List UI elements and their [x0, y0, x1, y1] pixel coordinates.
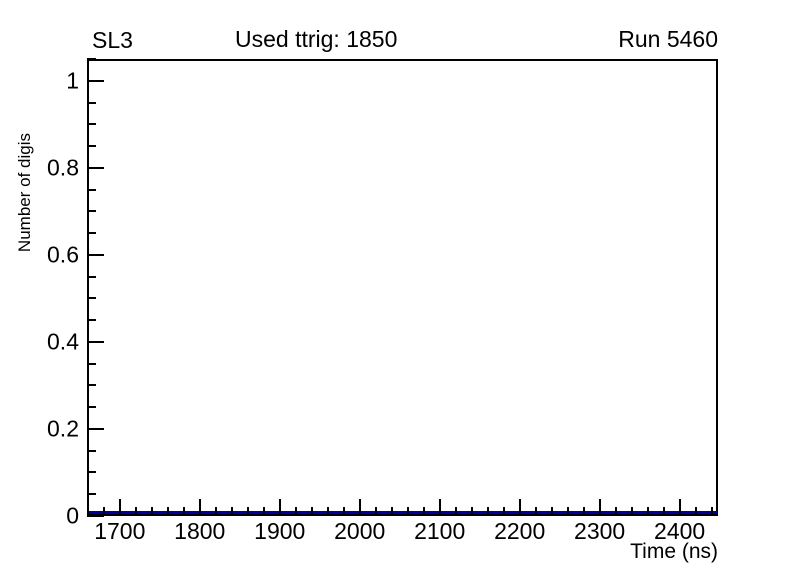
y-tick-major	[87, 515, 104, 517]
x-tick-major	[519, 499, 521, 516]
x-tick-minor	[231, 507, 233, 516]
x-tick-label: 1900	[254, 520, 305, 543]
x-tick-minor	[535, 507, 537, 516]
x-tick-label: 2100	[414, 520, 465, 543]
y-tick-minor	[87, 363, 96, 365]
x-axis-title: Time (ns)	[630, 541, 718, 562]
y-tick-label: 0.6	[47, 243, 79, 266]
y-tick-minor	[87, 232, 96, 234]
x-tick-minor	[215, 507, 217, 516]
x-tick-minor	[423, 507, 425, 516]
y-tick-label: 0	[66, 505, 79, 528]
x-tick-minor	[263, 507, 265, 516]
x-tick-minor	[695, 507, 697, 516]
x-tick-label: 2200	[494, 520, 545, 543]
x-tick-label: 1700	[94, 520, 145, 543]
x-tick-minor	[391, 507, 393, 516]
y-axis-title: Number of digis	[16, 133, 33, 252]
y-tick-minor	[87, 493, 96, 495]
x-tick-minor	[183, 507, 185, 516]
y-tick-minor	[87, 210, 96, 212]
x-tick-minor	[343, 507, 345, 516]
x-tick-minor	[615, 507, 617, 516]
x-tick-minor	[503, 507, 505, 516]
x-tick-minor	[551, 507, 553, 516]
x-tick-label: 1800	[174, 520, 225, 543]
y-tick-minor	[87, 297, 96, 299]
x-tick-minor	[711, 507, 713, 516]
y-tick-label: 0.4	[47, 330, 79, 353]
x-tick-minor	[327, 507, 329, 516]
y-axis-title-wrapper: Number of digis	[10, 68, 30, 198]
x-tick-minor	[151, 507, 153, 516]
y-tick-label: 0.2	[47, 417, 79, 440]
x-tick-major	[439, 499, 441, 516]
superlayer-label: SL3	[92, 29, 133, 52]
x-tick-minor	[295, 507, 297, 516]
y-tick-minor	[87, 384, 96, 386]
y-tick-minor	[87, 189, 96, 191]
x-tick-major	[599, 499, 601, 516]
x-tick-minor	[311, 507, 313, 516]
y-tick-minor	[87, 102, 96, 104]
x-tick-minor	[455, 507, 457, 516]
y-tick-minor	[87, 319, 96, 321]
x-tick-minor	[375, 507, 377, 516]
x-tick-minor	[567, 507, 569, 516]
x-tick-minor	[135, 507, 137, 516]
y-tick-major	[87, 167, 104, 169]
x-tick-major	[679, 499, 681, 516]
page-title: Used ttrig: 1850	[235, 28, 397, 51]
x-tick-label: 2000	[334, 520, 385, 543]
y-tick-major	[87, 428, 104, 430]
x-tick-minor	[583, 507, 585, 516]
x-tick-minor	[663, 507, 665, 516]
x-tick-minor	[247, 507, 249, 516]
y-tick-minor	[87, 276, 96, 278]
x-tick-major	[279, 499, 281, 516]
x-tick-minor	[471, 507, 473, 516]
x-tick-label: 2300	[574, 520, 625, 543]
plot-frame	[87, 59, 718, 516]
y-tick-major	[87, 80, 104, 82]
y-tick-major	[87, 254, 104, 256]
y-tick-label: 1	[66, 69, 79, 92]
x-tick-minor	[631, 507, 633, 516]
y-tick-minor	[87, 58, 96, 60]
run-number-label: Run 5460	[618, 28, 718, 51]
x-tick-major	[199, 499, 201, 516]
y-tick-label: 0.8	[47, 156, 79, 179]
y-tick-minor	[87, 123, 96, 125]
plot-canvas: SL3 Used ttrig: 1850 Run 5460 1700180019…	[0, 0, 796, 572]
y-tick-minor	[87, 471, 96, 473]
x-tick-minor	[487, 507, 489, 516]
y-tick-major	[87, 341, 104, 343]
x-tick-minor	[167, 507, 169, 516]
y-tick-minor	[87, 406, 96, 408]
y-tick-minor	[87, 145, 96, 147]
x-tick-major	[359, 499, 361, 516]
x-tick-minor	[647, 507, 649, 516]
y-tick-minor	[87, 450, 96, 452]
x-tick-minor	[407, 507, 409, 516]
x-tick-major	[119, 499, 121, 516]
